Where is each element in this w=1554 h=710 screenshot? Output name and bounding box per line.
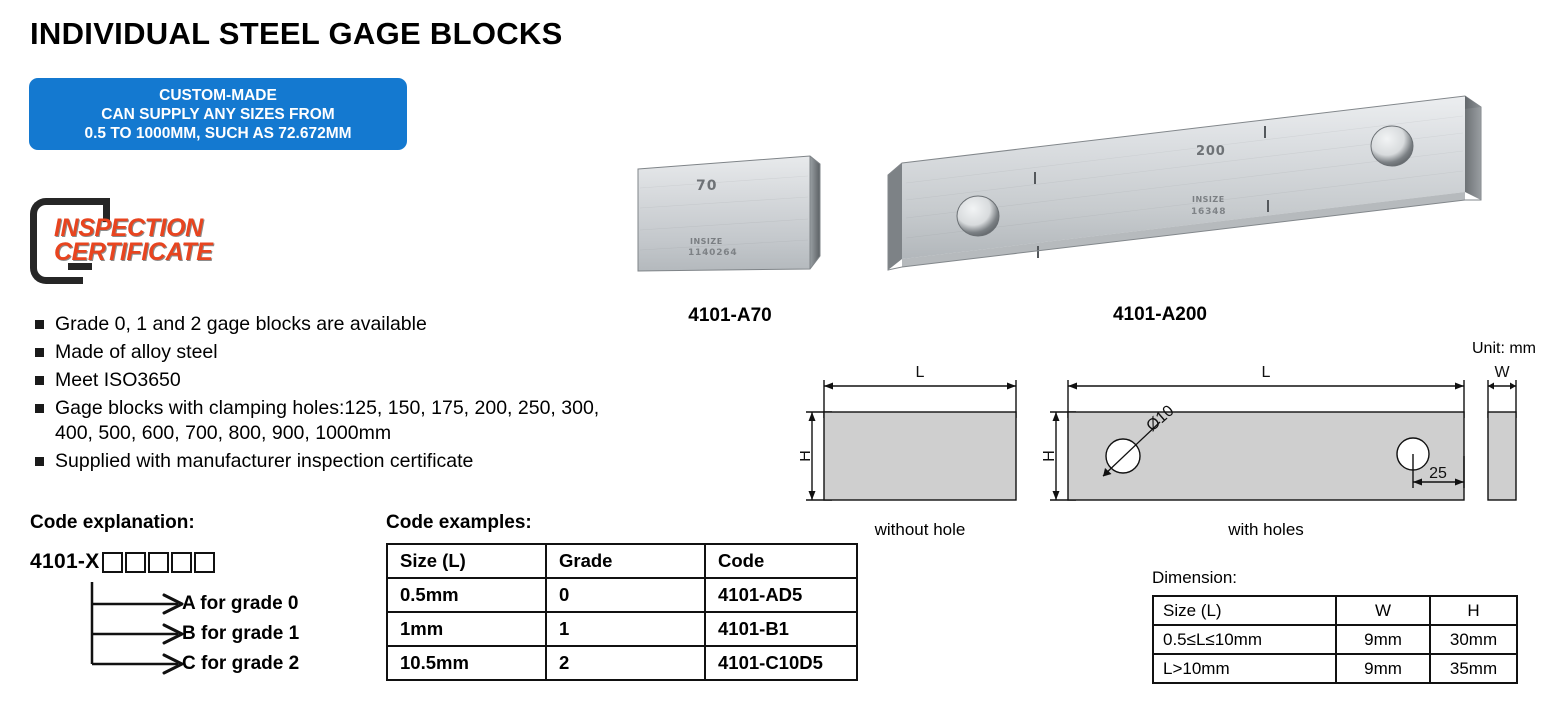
engraved-size-label: 70 [696, 178, 717, 194]
code-placeholder-box [148, 552, 169, 573]
feature-text: Meet ISO3650 [55, 368, 181, 393]
code-placeholder-box [171, 552, 192, 573]
cell-size: L>10mm [1153, 654, 1336, 683]
engraved-brand-label: INSIZE [690, 237, 723, 246]
page-title: INDIVIDUAL STEEL GAGE BLOCKS [30, 16, 563, 52]
drawing-caption-with-holes: with holes [1146, 520, 1386, 540]
cell-grade: 1 [546, 612, 705, 646]
unit-label: Unit: mm [1472, 340, 1536, 358]
dim-label-L-with-holes: L [1262, 364, 1271, 381]
inspection-logo-text: INSPECTION CERTIFICATE [54, 216, 213, 264]
code-pattern-prefix: 4101-X [30, 550, 100, 574]
column-header-grade: Grade [546, 544, 705, 578]
feature-text: Gage blocks with clamping holes:125, 150… [55, 396, 640, 446]
gage-block-200-image [880, 88, 1490, 298]
table-header-row: Size (L) W H [1153, 596, 1517, 625]
list-item: Grade 0, 1 and 2 gage blocks are availab… [30, 312, 650, 337]
list-item: Meet ISO3650 [30, 368, 650, 393]
technical-drawings: L L W H H Ø10 25 without hole with holes [800, 360, 1540, 545]
column-header-w: W [1336, 596, 1430, 625]
square-bullet-icon [35, 457, 44, 466]
table-row: 0.5mm 0 4101-AD5 [387, 578, 857, 612]
custom-made-badge: CUSTOM-MADE CAN SUPPLY ANY SIZES FROM 0.… [29, 78, 407, 150]
cell-grade: 2 [546, 646, 705, 680]
list-item: Gage blocks with clamping holes:125, 150… [30, 396, 650, 446]
table-header-row: Size (L) Grade Code [387, 544, 857, 578]
code-examples-title: Code examples: [386, 512, 858, 534]
column-header-h: H [1430, 596, 1517, 625]
engraved-brand-label: INSIZE [1192, 195, 1225, 204]
square-bullet-icon [35, 404, 44, 413]
custom-badge-line-3: 0.5 TO 1000MM, SUCH AS 72.672MM [84, 124, 351, 143]
cell-size: 0.5mm [387, 578, 546, 612]
cell-size: 0.5≤L≤10mm [1153, 625, 1336, 654]
code-placeholder-box [194, 552, 215, 573]
feature-text: Made of alloy steel [55, 340, 218, 365]
dim-label-H-with-holes: H [1041, 450, 1058, 462]
product-caption-long: 4101-A200 [1000, 304, 1320, 326]
cell-code: 4101-C10D5 [705, 646, 857, 680]
cell-size: 10.5mm [387, 646, 546, 680]
feature-list: Grade 0, 1 and 2 gage blocks are availab… [30, 312, 650, 477]
product-photo-small-block: 70 INSIZE 1140264 [620, 150, 840, 290]
drawing-caption-without-hole: without hole [800, 520, 1040, 540]
column-header-size: Size (L) [387, 544, 546, 578]
dimension-table: Size (L) W H 0.5≤L≤10mm 9mm 30mm L>10mm … [1152, 595, 1518, 684]
dim-label-L-without-hole: L [916, 364, 925, 381]
list-item: Made of alloy steel [30, 340, 650, 365]
cell-w: 9mm [1336, 654, 1430, 683]
custom-badge-line-2: CAN SUPPLY ANY SIZES FROM [101, 105, 334, 124]
table-row: L>10mm 9mm 35mm [1153, 654, 1517, 683]
cell-size: 1mm [387, 612, 546, 646]
cell-w: 9mm [1336, 625, 1430, 654]
column-header-code: Code [705, 544, 857, 578]
product-photo-long-block: 200 INSIZE 16348 [880, 88, 1490, 298]
inspection-certificate-logo: INSPECTION CERTIFICATE [28, 196, 258, 274]
grade-arrow-label: B for grade 1 [182, 623, 299, 645]
dimension-title: Dimension: [1152, 568, 1518, 588]
square-bullet-icon [35, 376, 44, 385]
engraved-serial-label: 1140264 [688, 248, 737, 258]
table-row: 10.5mm 2 4101-C10D5 [387, 646, 857, 680]
engraved-serial-label: 16348 [1191, 207, 1226, 217]
code-grade-arrows: A for grade 0 B for grade 1 C for grade … [30, 582, 360, 678]
code-placeholder-box [125, 552, 146, 573]
code-examples-table: Size (L) Grade Code 0.5mm 0 4101-AD5 1mm… [386, 543, 858, 681]
dim-label-H-without-hole: H [800, 450, 814, 462]
cell-h: 35mm [1430, 654, 1517, 683]
code-explanation-title: Code explanation: [30, 512, 380, 534]
cell-h: 30mm [1430, 625, 1517, 654]
dim-label-W: W [1494, 364, 1510, 381]
inspection-logo-line-2: CERTIFICATE [54, 240, 213, 264]
cell-grade: 0 [546, 578, 705, 612]
code-pattern: 4101-X [30, 550, 380, 574]
dim-label-hole-edge-distance: 25 [1429, 465, 1447, 482]
feature-text: Supplied with manufacturer inspection ce… [55, 449, 473, 474]
cell-code: 4101-AD5 [705, 578, 857, 612]
table-row: 0.5≤L≤10mm 9mm 30mm [1153, 625, 1517, 654]
square-bullet-icon [35, 320, 44, 329]
code-placeholder-box [102, 552, 123, 573]
product-caption-small: 4101-A70 [620, 305, 840, 327]
list-item: Supplied with manufacturer inspection ce… [30, 449, 650, 474]
inspection-logo-line-1: INSPECTION [54, 216, 213, 240]
grade-arrow-label: A for grade 0 [182, 593, 299, 615]
code-examples-section: Code examples: Size (L) Grade Code 0.5mm… [386, 512, 858, 681]
grade-arrow-label: C for grade 2 [182, 653, 299, 675]
table-row: 1mm 1 4101-B1 [387, 612, 857, 646]
engraved-size-label: 200 [1196, 144, 1226, 159]
dimension-drawings-svg: L L W H H Ø10 25 [800, 360, 1540, 545]
column-header-size: Size (L) [1153, 596, 1336, 625]
feature-text: Grade 0, 1 and 2 gage blocks are availab… [55, 312, 427, 337]
gage-block-70-image [620, 150, 840, 290]
dimension-section: Dimension: Size (L) W H 0.5≤L≤10mm 9mm 3… [1152, 568, 1518, 684]
square-bullet-icon [35, 348, 44, 357]
custom-badge-line-1: CUSTOM-MADE [159, 86, 277, 105]
code-explanation-section: Code explanation: 4101-X A for grade 0 B… [30, 512, 380, 670]
cell-code: 4101-B1 [705, 612, 857, 646]
